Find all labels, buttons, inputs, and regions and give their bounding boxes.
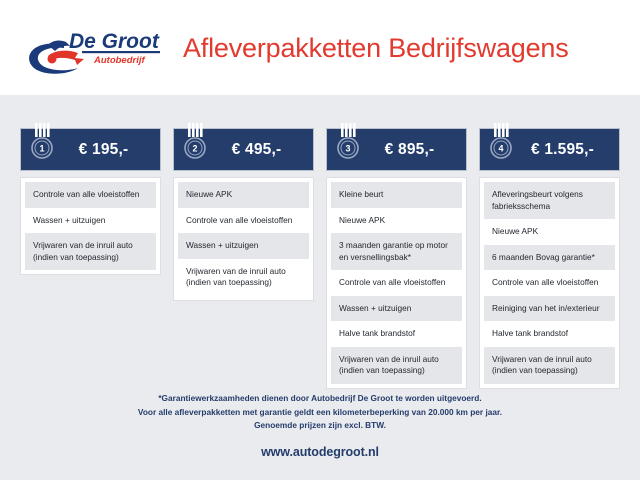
package-item: Wassen + uitzuigen (331, 296, 462, 322)
footer-disclaimer-line-3: Genoemde prijzen zijn excl. BTW. (0, 419, 640, 433)
package-column-4: 4 € 1.595,- Afleveringsbeurt volgens fab… (479, 128, 620, 389)
medal-rank-3: 3 (345, 144, 350, 154)
package-item: Vrijwaren van de inruil auto (indien van… (178, 259, 309, 296)
company-logo: De Groot Autobedrijf (22, 26, 167, 78)
package-item: Wassen + uitzuigen (178, 233, 309, 259)
price-header-4[interactable]: 4 € 1.595,- (479, 128, 620, 171)
package-column-2: 2 € 495,- Nieuwe APK Controle van alle v… (173, 128, 314, 301)
package-item: Wassen + uitzuigen (25, 208, 156, 234)
items-card-2: Nieuwe APK Controle van alle vloeistoffe… (173, 177, 314, 301)
package-item: Kleine beurt (331, 182, 462, 208)
package-item: Reiniging van het in/exterieur (484, 296, 615, 322)
logo-tagline: Autobedrijf (93, 55, 145, 66)
package-column-1: 1 € 195,- Controle van alle vloeistoffen… (20, 128, 161, 275)
medal-icon: 3 (335, 123, 361, 165)
poster-page: De Groot Autobedrijf Afleverpakketten Be… (0, 0, 640, 480)
page-title: Afleverpakketten Bedrijfswagens (183, 33, 569, 64)
package-item: Controle van alle vloeistoffen (484, 270, 615, 296)
package-item: Vrijwaren van de inruil auto (indien van… (25, 233, 156, 270)
package-item: Vrijwaren van de inruil auto (indien van… (484, 347, 615, 384)
page-header: De Groot Autobedrijf Afleverpakketten Be… (0, 0, 640, 95)
price-header-3[interactable]: 3 € 895,- (326, 128, 467, 171)
items-card-1: Controle van alle vloeistoffen Wassen + … (20, 177, 161, 275)
package-item: Afleveringsbeurt volgens fabrieksschema (484, 182, 615, 219)
page-footer: *Garantiewerkzaamheden dienen door Autob… (0, 392, 640, 459)
medal-rank-2: 2 (192, 144, 197, 154)
price-header-1[interactable]: 1 € 195,- (20, 128, 161, 171)
medal-icon: 4 (488, 123, 514, 165)
package-item: Halve tank brandstof (331, 321, 462, 347)
footer-disclaimer-line-1: *Garantiewerkzaamheden dienen door Autob… (0, 392, 640, 406)
items-card-3: Kleine beurt Nieuwe APK 3 maanden garant… (326, 177, 467, 389)
package-item: Controle van alle vloeistoffen (331, 270, 462, 296)
price-header-2[interactable]: 2 € 495,- (173, 128, 314, 171)
logo-wordmark: De Groot (69, 30, 160, 53)
package-item: Controle van alle vloeistoffen (178, 208, 309, 234)
package-item: Nieuwe APK (484, 219, 615, 245)
medal-rank-1: 1 (39, 144, 44, 154)
items-card-4: Afleveringsbeurt volgens fabrieksschema … (479, 177, 620, 389)
website-link[interactable]: www.autodegroot.nl (0, 445, 640, 459)
footer-disclaimer-line-2: Voor alle afleverpakketten met garantie … (0, 406, 640, 420)
package-item: Vrijwaren van de inruil auto (indien van… (331, 347, 462, 384)
package-item: Halve tank brandstof (484, 321, 615, 347)
package-item: Controle van alle vloeistoffen (25, 182, 156, 208)
package-item: Nieuwe APK (178, 182, 309, 208)
medal-rank-4: 4 (498, 144, 503, 154)
package-item: 3 maanden garantie op motor en versnelli… (331, 233, 462, 270)
package-item: Nieuwe APK (331, 208, 462, 234)
package-column-3: 3 € 895,- Kleine beurt Nieuwe APK 3 maan… (326, 128, 467, 389)
medal-icon: 1 (29, 123, 55, 165)
package-item: 6 maanden Bovag garantie* (484, 245, 615, 271)
medal-icon: 2 (182, 123, 208, 165)
